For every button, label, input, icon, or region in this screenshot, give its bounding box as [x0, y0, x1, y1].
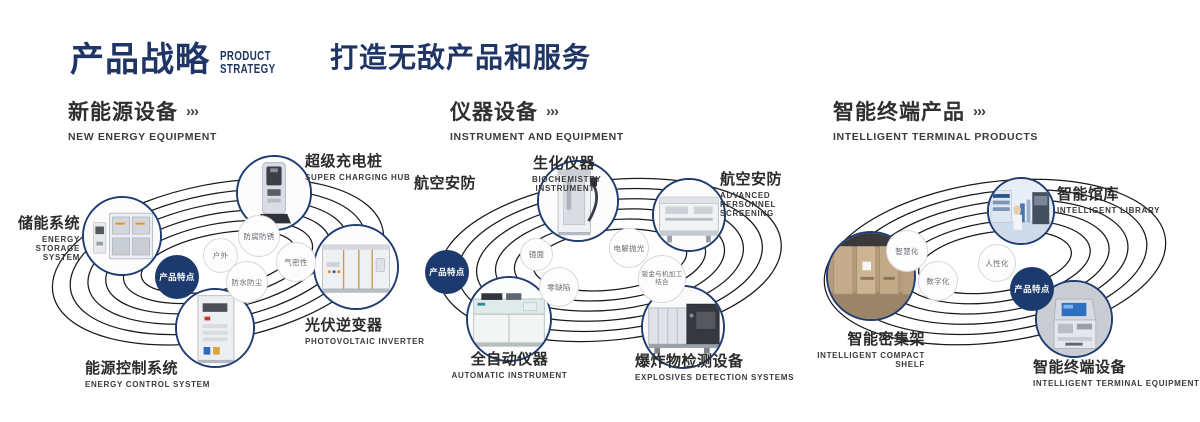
page-title-cn: 产品战略 [70, 42, 210, 78]
item-label-energy-storage: 储能系统 ENERGY STORAGE SYSTEM [2, 212, 80, 262]
feature-bubble: 人性化 [978, 244, 1016, 282]
item-label-cn: 智能终端设备 [1033, 356, 1200, 377]
section-title-en: INTELLIGENT TERMINAL PRODUCTS [833, 131, 1038, 143]
item-label-cn: 智能密集架 [785, 328, 925, 349]
page-title-en: PRODUCT STRATEGY [220, 50, 275, 76]
feature-bubble: 数字化 [918, 261, 958, 301]
feature-bubble: 防水防尘 [226, 261, 268, 303]
item-label-intelligent-library: 智能馆库 INTELLIGENT LIBRARY [1057, 183, 1160, 215]
item-label-en: PHOTOVOLTAIC INVERTER [305, 337, 425, 346]
center-badge: 产品特点 [1010, 267, 1054, 311]
item-label-en: INTELLIGENT COMPACT SHELF [785, 351, 925, 369]
item-label-photovoltaic-inverter: 光伏逆变器 PHOTOVOLTAIC INVERTER [305, 314, 425, 346]
chevrons-right-icon: ››› [186, 103, 198, 120]
item-label-automatic-instrument: 全自动仪器 AUTOMATIC INSTRUMENT [437, 348, 582, 380]
feature-bubble: 电解抛光 [609, 228, 649, 268]
feature-bubble: 气密性 [276, 242, 316, 282]
photo-circle-personnel-screening[interactable] [652, 178, 726, 252]
page-subtitle-cn: 打造无敌产品和服务 [330, 36, 591, 76]
cluster-new-energy-equipment: 产品特点 户外 防腐防锈 防水防尘 气密性 储能系统 ENERGY STORAG… [20, 150, 420, 410]
feature-bubble: 智慧化 [886, 230, 928, 272]
chevrons-right-icon: ››› [973, 103, 985, 120]
item-label-en: ENERGY CONTROL SYSTEM [85, 380, 210, 389]
page-title-group: 产品战略 PRODUCT STRATEGY [70, 28, 291, 78]
energy-storage-cabinet-image [84, 198, 160, 274]
item-label-cn: 爆炸物检测设备 [635, 350, 794, 371]
section-title-cn: 仪器设备 [450, 96, 538, 126]
section-title-cn: 新能源设备 [68, 96, 178, 126]
item-label-intelligent-terminal-equipment: 智能终端设备 INTELLIGENT TERMINAL EQUIPMENT [1033, 356, 1200, 388]
item-label-energy-control-system: 能源控制系统 ENERGY CONTROL SYSTEM [85, 357, 210, 389]
section-title-cn: 智能终端产品 [833, 96, 965, 126]
chevrons-right-icon: ››› [546, 103, 558, 120]
photovoltaic-inverter-image [315, 226, 397, 308]
section-title-en: INSTRUMENT AND EQUIPMENT [450, 131, 624, 143]
product-strategy-infographic: 产品战略 PRODUCT STRATEGY 打造无敌产品和服务 新能源设备›››… [0, 0, 1200, 422]
item-label-en: ENERGY STORAGE SYSTEM [2, 235, 80, 262]
item-label-cn: 储能系统 [2, 212, 80, 233]
item-label-intelligent-compact-shelf: 智能密集架 INTELLIGENT COMPACT SHELF [785, 328, 925, 369]
item-label-cn: 能源控制系统 [85, 357, 210, 378]
intelligent-library-room-image [989, 179, 1053, 243]
feature-bubble: 钣金与机加工结合 [638, 255, 686, 303]
item-label-en: INTELLIGENT TERMINAL EQUIPMENT [1033, 379, 1200, 388]
item-label-en: AUTOMATIC INSTRUMENT [437, 371, 582, 380]
item-label-biochemistry-instrument: 生化仪器 BIOCHEMISTRY INSTRUMENT [450, 152, 595, 193]
feature-bubble: 镜面 [520, 238, 553, 271]
section-title-en: NEW ENERGY EQUIPMENT [68, 131, 217, 143]
item-label-en: INTELLIGENT LIBRARY [1057, 206, 1160, 215]
item-label-cn: 超级充电桩 [305, 150, 411, 171]
feature-bubble: 防腐防锈 [238, 215, 280, 257]
item-label-en: EXPLOSIVES DETECTION SYSTEMS [635, 373, 794, 382]
cluster-instrument-and-equipment: 产品特点 镜面 电解抛光 零缺陷 钣金与机加工结合 航空安防 生化仪器 BIOC… [410, 150, 810, 410]
center-badge: 产品特点 [425, 250, 469, 294]
center-badge: 产品特点 [155, 255, 199, 299]
item-label-en: SUPER CHARGING HUB [305, 173, 411, 182]
item-label-cn: 生化仪器 [450, 152, 595, 173]
photo-circle-intelligent-library[interactable] [987, 177, 1055, 245]
section-header-instrument: 仪器设备››› INSTRUMENT AND EQUIPMENT [450, 96, 624, 143]
section-header-intelligent-terminal: 智能终端产品››› INTELLIGENT TERMINAL PRODUCTS [833, 96, 1038, 143]
item-label-explosives-detection: 爆炸物检测设备 EXPLOSIVES DETECTION SYSTEMS [635, 350, 794, 382]
item-label-cn: 智能馆库 [1057, 183, 1160, 204]
personnel-screening-scanner-image [654, 180, 724, 250]
item-label-cn: 全自动仪器 [437, 348, 582, 369]
photo-circle-energy-storage[interactable] [82, 196, 162, 276]
feature-bubble: 零缺陷 [539, 267, 579, 307]
cluster-intelligent-terminal-products: 智慧化 数字化 人性化 产品特点 智能馆库 INTELLIGENT LIBRAR… [795, 150, 1195, 410]
item-label-super-charging-hub: 超级充电桩 SUPER CHARGING HUB [305, 150, 411, 182]
item-label-cn: 光伏逆变器 [305, 314, 425, 335]
item-label-en: BIOCHEMISTRY INSTRUMENT [532, 175, 595, 193]
section-header-new-energy: 新能源设备››› NEW ENERGY EQUIPMENT [68, 96, 217, 143]
photo-circle-photovoltaic-inverter[interactable] [313, 224, 399, 310]
